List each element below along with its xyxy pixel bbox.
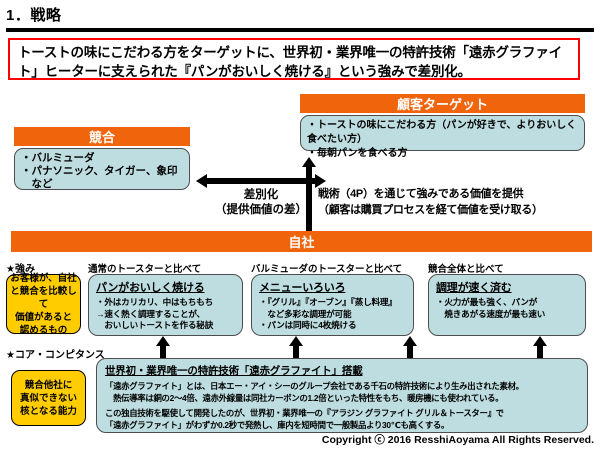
competitor-box: ・バルミューダ ・パナソニック、タイガー、象印 など [14,148,190,190]
title-divider [6,28,594,32]
strength-caption-1: 通常のトースターと比べて [88,261,201,275]
core-competence-star-label: ★コア・コンピタンス [6,346,105,361]
strategy-statement-box: トーストの味にこだわる方をターゲットに、世界初・業界唯一の特許技術「遠赤グラファ… [8,38,580,80]
tactics-label: 戦術（4P）を通じて強みである価値を提供 （顧客は購買プロセスを経て価値を受け取… [318,186,543,218]
strength-box-1: パンがおいしく焼ける ・外はカリカリ、中はもちもち →速く熱く調理することが、 … [88,274,243,336]
customer-bullet: ・毎朝パンを食べる方 [307,147,579,161]
competitor-bullet: ・パナソニック、タイガー、象印 [21,165,185,178]
strength-title-3: 調理が速く済む [436,279,581,295]
strength-line: ・外はカリカリ、中はもちもち [96,297,238,309]
core-competence-paragraph: 「遠赤グラファイト」とは、日本エー・アイ・シーのグループ会社である千石の特許技術… [105,381,581,404]
strength-definition-line: と競合を比較して [7,285,80,311]
core-competence-definition-box: 競合他社に 真似できない 核となる能力 [11,370,86,426]
page-title: 1．戦略 [6,4,61,25]
strength-line: ・パンは同時に4枚焼ける [259,320,409,332]
strength-caption-3: 競合全体と比べて [428,261,504,275]
customer-target-header: 顧客ターゲット [300,94,585,113]
strength-line: ・『グリル』『オーブン』『蒸し料理』 [259,297,409,309]
customer-bullet: ・トーストの味にこだわる方（パンが好きで、よりおいしく食べたい方） [307,119,579,147]
value-delivery-arrow [300,157,318,232]
core-definition-line: 核となる能力 [20,405,77,418]
core-to-strength-arrow-3 [403,336,417,358]
strength-line: 焼きあがる速度が最も速い [436,309,581,321]
core-definition-line: 真似できない [20,392,77,405]
strength-definition-box: お客様が、自社 と競合を比較して 価値があると 認めるもの [6,274,81,334]
tactics-label-line2: （顧客は購買プロセスを経て価値を受け取る） [318,202,543,218]
strength-line: →速く熱く調理することが、 [96,309,238,321]
strength-line: ・火力が最も強く、パンが [436,297,581,309]
core-to-strength-arrow-1 [156,336,170,358]
core-definition-line: 競合他社に [25,379,73,392]
self-company-header: 自社 [11,231,592,252]
strength-box-2: メニューいろいろ ・『グリル』『オーブン』『蒸し料理』 など多彩な調理が可能 ・… [251,274,414,336]
core-competence-detail-box: 世界初・業界唯一の特許技術「遠赤グラファイト」搭載 「遠赤グラファイト」とは、日… [96,358,588,433]
core-to-strength-arrow-4 [533,336,547,358]
competitor-bullet: など [21,178,185,191]
strength-title-1: パンがおいしく焼ける [96,279,238,295]
customer-target-box: ・トーストの味にこだわる方（パンが好きで、よりおいしく食べたい方） ・毎朝パンを… [300,115,585,151]
tactics-label-line1: 戦術（4P）を通じて強みである価値を提供 [318,186,543,202]
strength-line: など多彩な調理が可能 [259,309,409,321]
strength-definition-line: お客様が、自社 [10,272,76,285]
strength-line: おいしいトーストを作る秘訣 [96,320,238,332]
copyright-notice: Copyright ⓒ 2016 ResshiAoyama All Rights… [322,432,594,447]
strength-box-3: 調理が速く済む ・火力が最も強く、パンが 焼きあがる速度が最も速い [428,274,586,336]
core-competence-paragraph: この独自技術を駆使して開発したのが、世界初・業界唯一の『アラジン グラファイト … [105,408,581,431]
strength-definition-line: 認めるもの [20,324,68,337]
strength-title-2: メニューいろいろ [259,279,409,295]
competitor-bullet: ・バルミューダ [21,152,185,165]
strength-definition-line: 価値があると [15,311,72,324]
core-competence-title: 世界初・業界唯一の特許技術「遠赤グラファイト」搭載 [105,363,581,378]
core-to-strength-arrow-2 [289,336,303,358]
strength-caption-2: バルミューダのトースターと比べて [251,261,402,275]
competitor-header: 競合 [14,127,190,146]
